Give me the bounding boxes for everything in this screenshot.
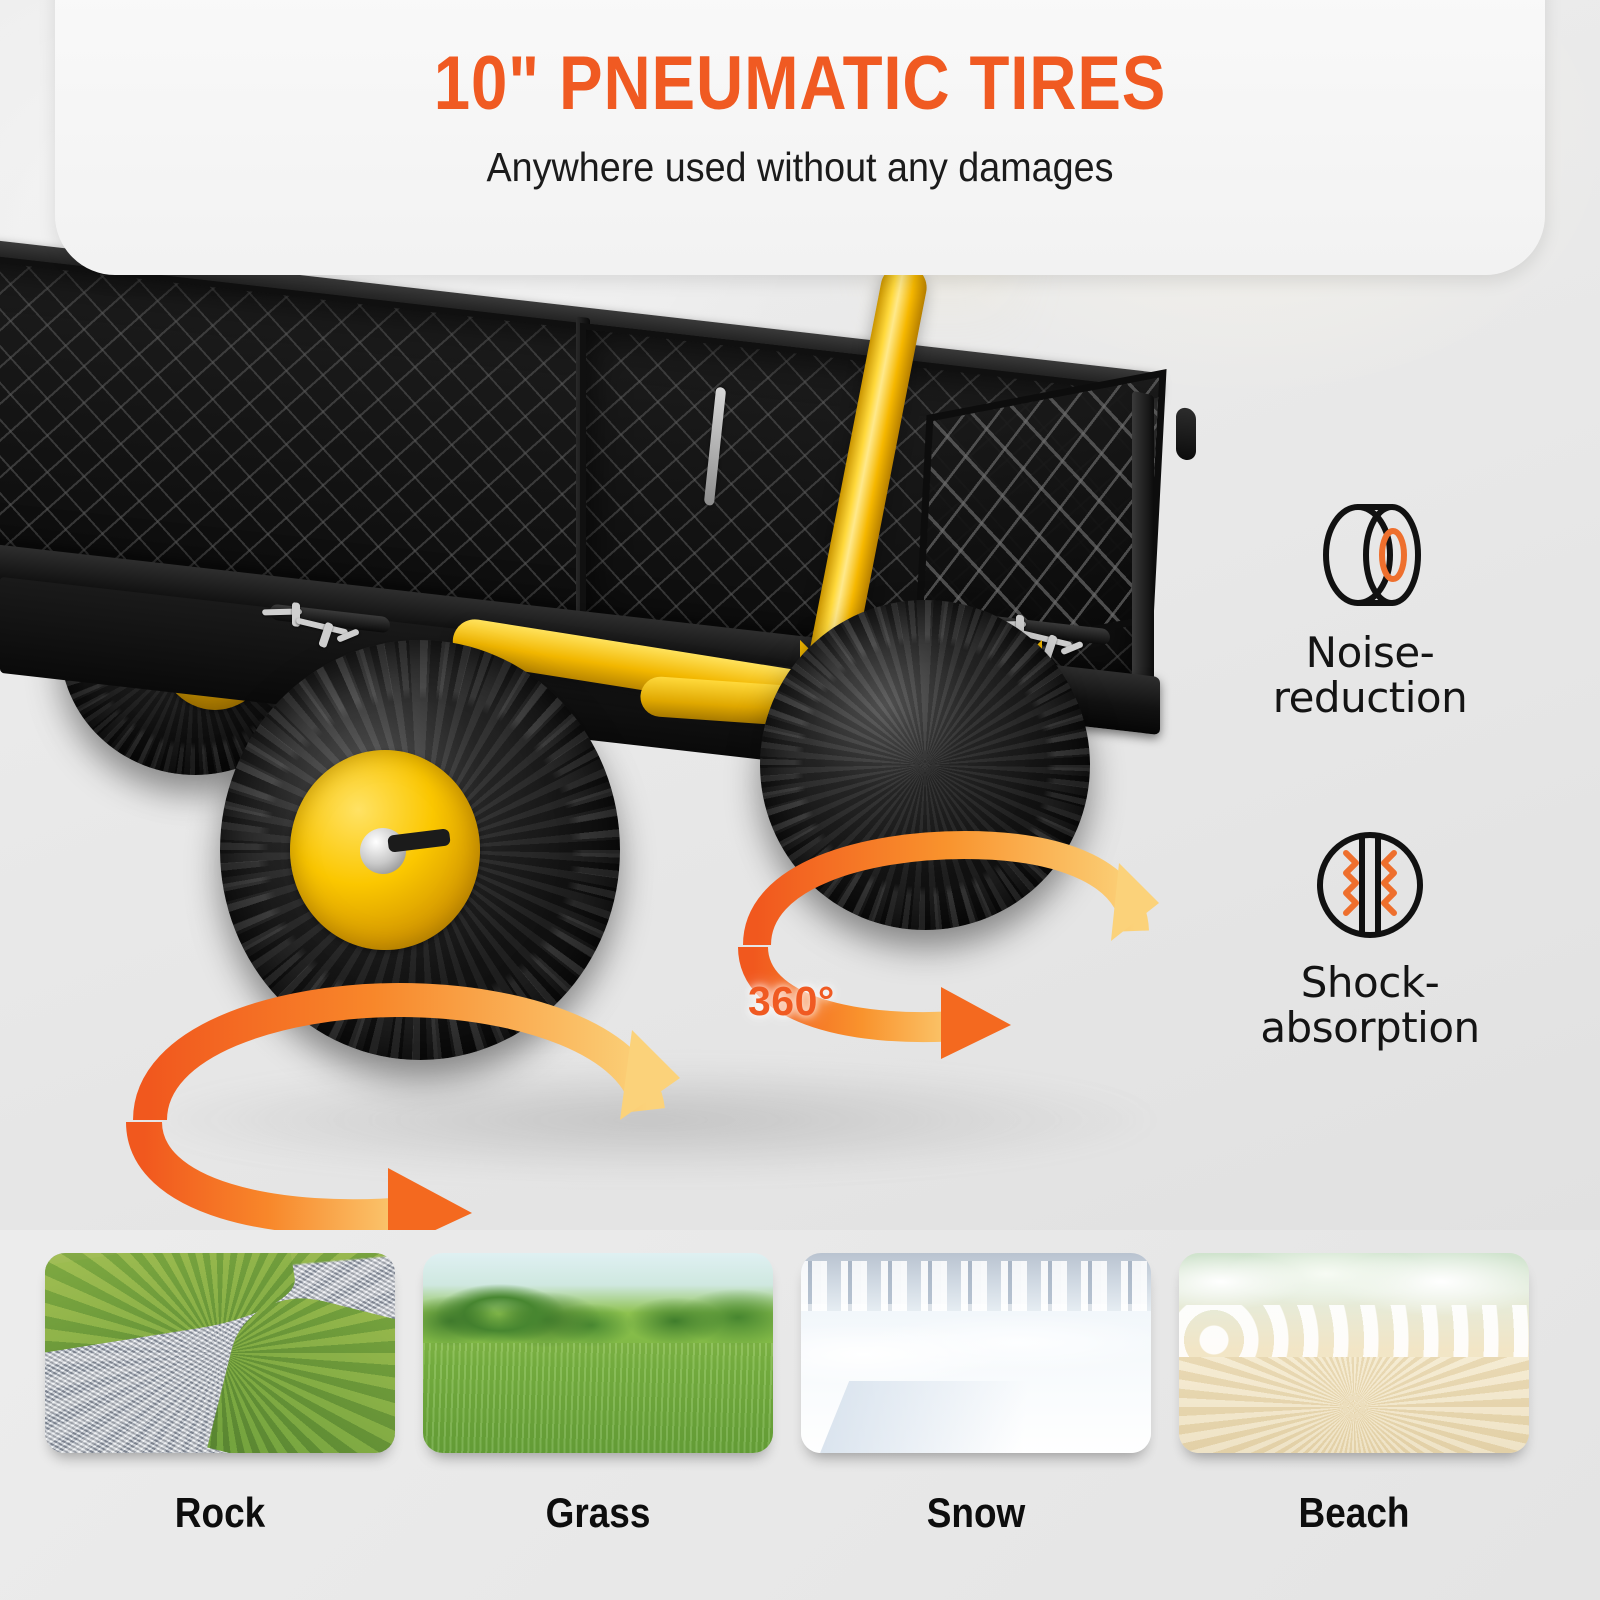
feature-label-line1: Noise- — [1190, 630, 1550, 675]
rotation-badge-360: 360° — [748, 978, 835, 1025]
feature-label-line1: Shock- — [1190, 960, 1550, 1005]
feature-label-line2: absorption — [1190, 1005, 1550, 1050]
terrain-label: Snow — [822, 1489, 1130, 1537]
rear-handle-knob — [1176, 407, 1196, 461]
page-title: 10" PNEUMATIC TIRES — [159, 40, 1440, 127]
terrain-label: Rock — [66, 1489, 374, 1537]
page-subtitle: Anywhere used without any damages — [115, 144, 1486, 191]
terrain-label: Beach — [1200, 1489, 1508, 1537]
terrain-card-rock: Rock — [45, 1253, 395, 1537]
terrain-thumbnail-grass — [423, 1253, 773, 1453]
header-card: 10" PNEUMATIC TIRES Anywhere used withou… — [55, 0, 1545, 275]
gravel-path-photo — [45, 1253, 395, 1453]
terrain-thumbnail-snow — [801, 1253, 1151, 1453]
terrain-thumbnail-beach — [1179, 1253, 1529, 1453]
terrain-card-snow: Snow — [801, 1253, 1151, 1537]
feature-label: Shock- absorption — [1190, 960, 1550, 1051]
feature-noise-reduction: Noise- reduction — [1190, 480, 1550, 721]
terrain-label: Grass — [444, 1489, 752, 1537]
product-photo: 360° 10" PNEUMATIC TIRES Anywhere used w… — [0, 0, 1600, 1230]
feature-label-line2: reduction — [1190, 675, 1550, 720]
green-lawn-photo — [423, 1253, 773, 1453]
infographic-canvas: 360° 10" PNEUMATIC TIRES Anywhere used w… — [0, 0, 1600, 1600]
snow-field-photo — [801, 1253, 1151, 1453]
tire-icon — [1190, 480, 1550, 630]
terrain-card-grass: Grass — [423, 1253, 773, 1537]
feature-shock-absorption: Shock- absorption — [1190, 810, 1550, 1051]
terrain-thumbnail-rock — [45, 1253, 395, 1453]
sand-surf-photo — [1179, 1253, 1529, 1453]
feature-label: Noise- reduction — [1190, 630, 1550, 721]
terrain-card-beach: Beach — [1179, 1253, 1529, 1537]
terrain-strip: Rock Grass Snow Beac — [0, 1235, 1600, 1600]
rotation-arrow-front-wheel — [120, 1000, 680, 1230]
rear-corner-post — [1132, 391, 1154, 696]
shock-wave-icon — [1190, 810, 1550, 960]
